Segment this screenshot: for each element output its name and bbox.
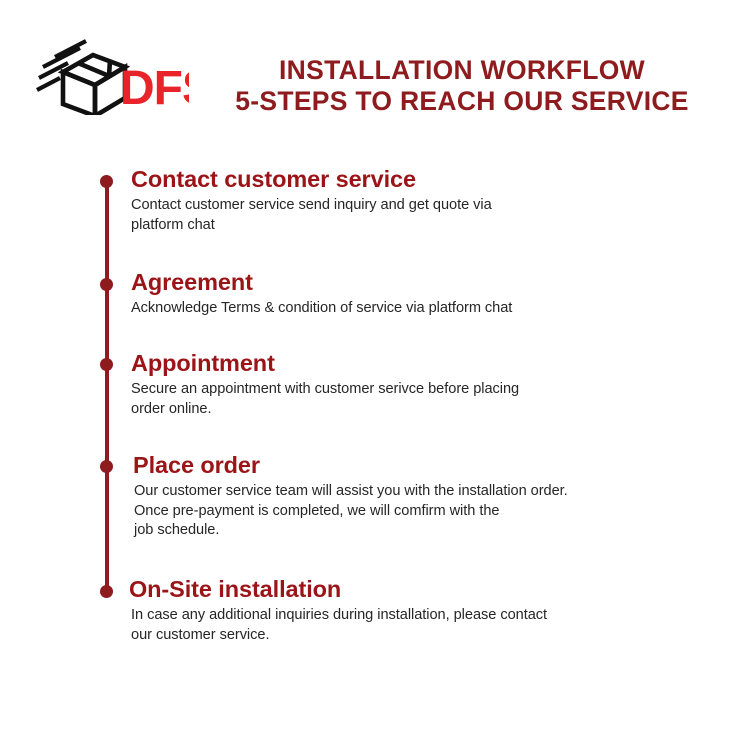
timeline-track <box>105 181 109 591</box>
step-item-5: On-Site installation In case any additio… <box>129 576 714 645</box>
shipping-box-motion-icon: DFS <box>34 33 189 115</box>
step-5-body-line-2: our customer service. <box>131 626 714 646</box>
timeline-dot-3 <box>100 358 113 371</box>
step-4-body-line-3: job schedule. <box>134 521 718 541</box>
step-4-body-line-1: Our customer service team will assist yo… <box>134 482 718 502</box>
step-3-body-line-1: Secure an appointment with customer seri… <box>131 380 716 400</box>
infographic-page: DFS INSTALLATION WORKFLOW 5-STEPS TO REA… <box>0 0 730 730</box>
step-5-body-line-1: In case any additional inquiries during … <box>131 606 714 626</box>
step-5-body: In case any additional inquiries during … <box>129 606 714 645</box>
step-4-body: Our customer service team will assist yo… <box>133 482 718 541</box>
timeline-dot-5 <box>100 585 113 598</box>
step-item-1: Contact customer service Contact custome… <box>131 166 716 235</box>
step-item-2: Agreement Acknowledge Terms & condition … <box>131 269 716 319</box>
step-item-3: Appointment Secure an appointment with c… <box>131 350 716 419</box>
timeline-dot-2 <box>100 278 113 291</box>
step-2-body-line-1: Acknowledge Terms & condition of service… <box>131 299 716 319</box>
step-1-title: Contact customer service <box>131 166 716 193</box>
step-4-title: Place order <box>133 452 718 479</box>
step-3-body: Secure an appointment with customer seri… <box>131 380 716 419</box>
dfs-wordmark: DFS <box>120 62 189 115</box>
title-line-1: INSTALLATION WORKFLOW <box>222 55 702 86</box>
step-1-body-line-1: Contact customer service send inquiry an… <box>131 196 716 216</box>
header: DFS INSTALLATION WORKFLOW 5-STEPS TO REA… <box>0 0 730 145</box>
timeline-dot-4 <box>100 460 113 473</box>
step-3-body-line-2: order online. <box>131 400 716 420</box>
step-item-4: Place order Our customer service team wi… <box>133 452 718 541</box>
title-line-2: 5-STEPS TO REACH OUR SERVICE <box>222 86 702 117</box>
page-title: INSTALLATION WORKFLOW 5-STEPS TO REACH O… <box>222 55 702 117</box>
timeline-dot-1 <box>100 175 113 188</box>
step-1-body: Contact customer service send inquiry an… <box>131 196 716 235</box>
step-3-title: Appointment <box>131 350 716 377</box>
step-4-body-line-2: Once pre-payment is completed, we will c… <box>134 502 718 522</box>
step-2-body: Acknowledge Terms & condition of service… <box>131 299 716 319</box>
step-2-title: Agreement <box>131 269 716 296</box>
dfs-logo: DFS <box>34 33 189 115</box>
step-5-title: On-Site installation <box>129 576 714 603</box>
step-1-body-line-2: platform chat <box>131 216 716 236</box>
